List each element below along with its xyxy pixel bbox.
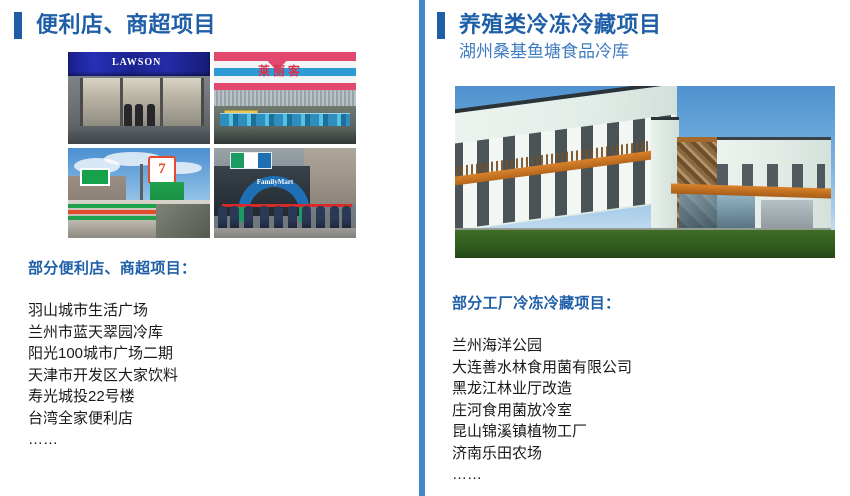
lawson-mullion	[160, 78, 163, 126]
familymart-logo-icon	[230, 152, 272, 169]
render-front-face	[651, 117, 679, 232]
attendee	[342, 206, 351, 230]
attendee	[244, 206, 253, 230]
seven-stripe-green	[68, 204, 164, 208]
left-panel-title: 便利店、商超项目	[36, 10, 216, 39]
left-heading: 便利店、商超项目	[14, 10, 216, 39]
right-section-label: 部分工厂冷冻冷藏项目：	[452, 292, 620, 313]
list-item: ……	[28, 429, 178, 451]
seven-green-placard	[80, 168, 110, 186]
attendee	[274, 206, 283, 230]
photo-familymart-opening: FamilyMart	[214, 148, 356, 238]
lawson-floor	[68, 126, 210, 144]
left-heading-texts: 便利店、商超项目	[36, 10, 216, 39]
list-item: 兰州海洋公园	[452, 335, 632, 357]
lawson-mullion	[120, 78, 123, 126]
seven-eleven-logo-icon: 7	[148, 156, 176, 184]
list-item: 黑龙江林业厅改造	[452, 378, 632, 400]
list-item: 兰州市蓝天翠园冷库	[28, 322, 178, 344]
seven-stripe-green	[68, 216, 164, 220]
list-item: 庄河食用菌放冷室	[452, 400, 632, 422]
seven-tarp	[156, 204, 210, 238]
familymart-arch-text: FamilyMart	[246, 178, 304, 186]
render-glass-entry	[679, 194, 755, 230]
right-heading: 养殖类冷冻冷藏项目 湖州桑基鱼塘食品冷库	[437, 10, 662, 65]
photo-lailike-storefront: 莱丽客	[214, 52, 356, 144]
attendee	[230, 206, 239, 230]
lailike-sign-text: 莱丽客	[258, 62, 303, 79]
attendee	[218, 206, 227, 230]
lawson-sign-text: LAWSON	[112, 57, 161, 68]
attendee	[288, 206, 297, 230]
list-item: 羽山城市生活广场	[28, 300, 178, 322]
list-item: 昆山锦溪镇植物工厂	[452, 421, 632, 443]
seven-stripe-red	[68, 210, 164, 214]
attendee	[330, 206, 339, 230]
right-panel-title: 养殖类冷冻冷藏项目	[459, 10, 662, 39]
familymart-ground	[214, 228, 356, 238]
attendee	[260, 206, 269, 230]
right-heading-texts: 养殖类冷冻冷藏项目 湖州桑基鱼塘食品冷库	[459, 10, 662, 65]
familymart-adjacent-building	[304, 148, 356, 204]
lailike-shelving	[220, 113, 350, 126]
accent-bar-icon	[14, 12, 22, 39]
list-item: 台湾全家便利店	[28, 408, 178, 430]
list-item: 阳光100城市广场二期	[28, 343, 178, 365]
right-project-list: 兰州海洋公园 大连善水林食用菌有限公司 黑龙江林业厅改造 庄河食用菌放冷室 昆山…	[452, 335, 632, 486]
render-lawn	[455, 230, 835, 258]
list-item: 大连善水林食用菌有限公司	[452, 357, 632, 379]
lawson-shopper	[124, 104, 132, 128]
lawson-shopper	[135, 104, 143, 128]
lawson-shopper	[147, 104, 155, 128]
list-item: ……	[452, 464, 632, 486]
right-panel: 养殖类冷冻冷藏项目 湖州桑基鱼塘食品冷库 部分工厂冷冻冷藏项目： 兰州海洋公园 …	[425, 0, 850, 496]
convenience-store-photo-grid: LAWSON 莱丽客	[68, 52, 356, 238]
slide: 便利店、商超项目 LAWSON	[0, 0, 850, 496]
list-item: 济南乐田农场	[452, 443, 632, 465]
attendee	[302, 206, 311, 230]
list-item: 天津市开发区大家饮料	[28, 365, 178, 387]
left-panel: 便利店、商超项目 LAWSON	[0, 0, 419, 496]
attendee	[316, 206, 325, 230]
photo-lawson-storefront: LAWSON	[68, 52, 210, 144]
accent-bar-icon	[437, 12, 445, 39]
left-section-label: 部分便利店、商超项目：	[28, 257, 196, 278]
cold-storage-building-render	[455, 86, 835, 258]
left-project-list: 羽山城市生活广场 兰州市蓝天翠园冷库 阳光100城市广场二期 天津市开发区大家饮…	[28, 300, 178, 451]
photo-seven-eleven-street: 7	[68, 148, 210, 238]
lailike-stripe-pink	[214, 83, 356, 90]
render-garage-door	[761, 200, 813, 230]
right-panel-subtitle: 湖州桑基鱼塘食品冷库	[459, 39, 662, 65]
list-item: 寿光城投22号楼	[28, 386, 178, 408]
